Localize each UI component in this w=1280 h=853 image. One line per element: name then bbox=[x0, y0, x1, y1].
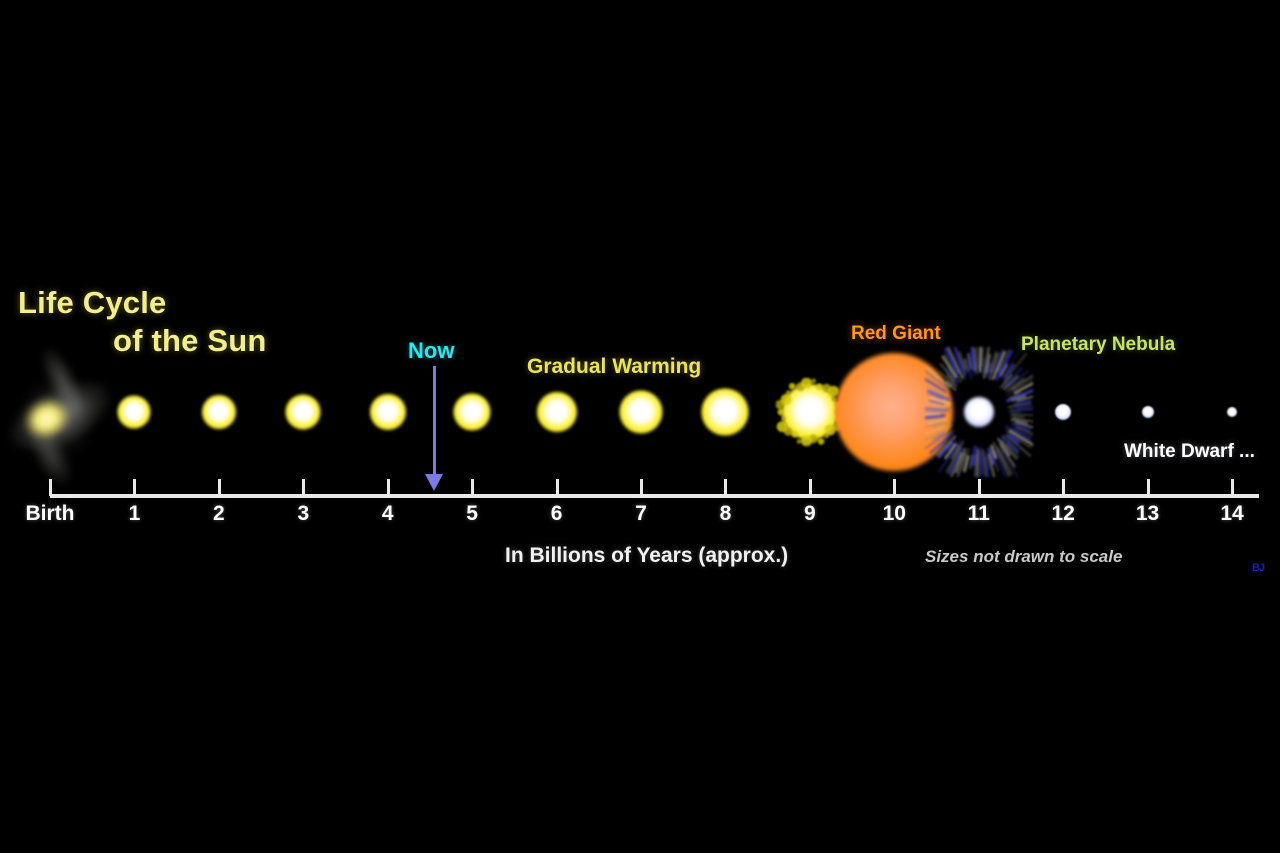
axis-tick-3 bbox=[302, 479, 305, 496]
now-label: Now bbox=[408, 338, 454, 364]
planetary-nebula-label: Planetary Nebula bbox=[1021, 334, 1175, 356]
page-title-line-1: Life Cycle bbox=[18, 285, 166, 321]
axis-tick-label-4: 4 bbox=[382, 502, 394, 526]
axis-caption: In Billions of Years (approx.) bbox=[505, 544, 788, 568]
white-dwarf-star bbox=[1227, 407, 1237, 417]
white-dwarf-star bbox=[1142, 406, 1154, 418]
page-title-line-2: of the Sun bbox=[113, 323, 267, 359]
axis-tick-label-3: 3 bbox=[297, 502, 309, 526]
axis-tick-4 bbox=[387, 479, 390, 496]
axis-tick-label-13: 13 bbox=[1136, 502, 1159, 526]
main-sequence-star bbox=[118, 396, 151, 429]
gradual-warming-label: Gradual Warming bbox=[527, 355, 701, 379]
now-arrow-head bbox=[425, 474, 443, 491]
axis-tick-label-5: 5 bbox=[466, 502, 478, 526]
axis-tick-label-6: 6 bbox=[551, 502, 563, 526]
axis-tick-label-10: 10 bbox=[883, 502, 906, 526]
axis-tick-1 bbox=[133, 479, 136, 496]
axis-tick-2 bbox=[218, 479, 221, 496]
axis-tick-label-7: 7 bbox=[635, 502, 647, 526]
timeline-axis bbox=[50, 494, 1259, 498]
diagram-canvas: Life Cycle of the Sun Now Gradual Warmin… bbox=[0, 0, 1280, 853]
axis-tick-8 bbox=[724, 479, 727, 496]
planetary-nebula-core-white-dwarf bbox=[964, 397, 994, 427]
axis-tick-birth bbox=[49, 479, 52, 496]
white-dwarf-label: White Dwarf ... bbox=[1124, 441, 1255, 463]
axis-tick-label-birth: Birth bbox=[26, 502, 75, 526]
main-sequence-star bbox=[286, 395, 321, 430]
planetary-nebula-shell bbox=[925, 347, 1033, 477]
axis-tick-label-12: 12 bbox=[1051, 502, 1074, 526]
axis-tick-label-9: 9 bbox=[804, 502, 816, 526]
white-dwarf-star bbox=[1055, 404, 1071, 420]
main-sequence-star bbox=[370, 394, 406, 430]
axis-tick-label-11: 11 bbox=[968, 502, 990, 526]
axis-tick-12 bbox=[1062, 479, 1065, 496]
axis-tick-label-2: 2 bbox=[213, 502, 225, 526]
axis-tick-label-1: 1 bbox=[129, 502, 141, 526]
red-giant-label: Red Giant bbox=[851, 323, 941, 345]
solar-prominences bbox=[776, 378, 844, 446]
axis-tick-9 bbox=[809, 479, 812, 496]
axis-tick-10 bbox=[893, 479, 896, 496]
main-sequence-star bbox=[702, 389, 749, 436]
axis-tick-14 bbox=[1231, 479, 1234, 496]
scale-disclaimer: Sizes not drawn to scale bbox=[925, 547, 1122, 567]
axis-tick-label-8: 8 bbox=[720, 502, 732, 526]
main-sequence-star bbox=[454, 394, 491, 431]
main-sequence-star bbox=[537, 392, 577, 432]
main-sequence-star bbox=[202, 395, 236, 429]
axis-tick-5 bbox=[471, 479, 474, 496]
artist-watermark: BJ bbox=[1252, 562, 1264, 574]
axis-tick-7 bbox=[640, 479, 643, 496]
axis-tick-13 bbox=[1147, 479, 1150, 496]
axis-tick-label-14: 14 bbox=[1220, 502, 1243, 526]
axis-tick-6 bbox=[556, 479, 559, 496]
main-sequence-star bbox=[620, 391, 663, 434]
now-arrow-shaft bbox=[433, 366, 436, 478]
axis-tick-11 bbox=[978, 479, 981, 496]
